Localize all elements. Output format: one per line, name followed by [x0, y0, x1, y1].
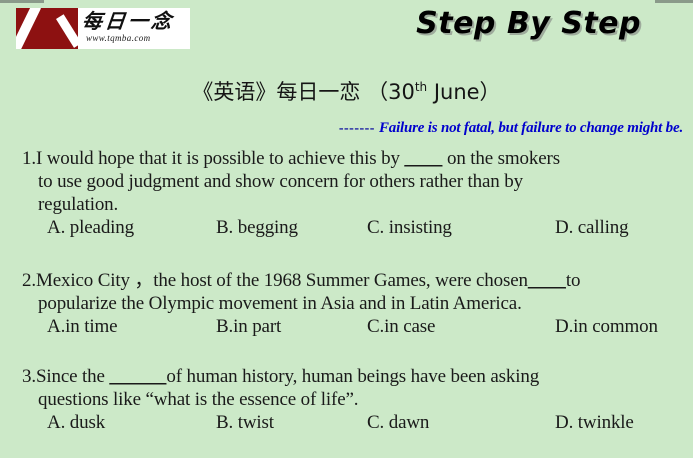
question-1-options: A. pleading B. begging C. insisting D. c… [22, 216, 685, 240]
question-3-text-before: Since the [36, 366, 109, 387]
logo-wordmark: 每日一念 www.tqmba.com [78, 8, 190, 49]
spacer-1 [22, 244, 685, 269]
question-3-option-b[interactable]: B. twist [216, 411, 367, 435]
page-title-prefix: 《英语》每日一恋 （30 [192, 80, 414, 104]
question-3-line-2: questions like “what is the essence of l… [22, 388, 685, 411]
question-2-number: 2. [22, 270, 36, 291]
question-2-line-2: popularize the Olympic movement in Asia … [22, 292, 685, 315]
question-2-option-c[interactable]: C.in case [367, 315, 555, 339]
question-1-line-1: 1.I would hope that it is possible to ac… [22, 147, 685, 170]
quote-text: Failure is not fatal, but failure to cha… [379, 120, 683, 136]
brand-logo: 每日一念 www.tqmba.com [16, 8, 190, 49]
question-2-text-before: Mexico City ，the host of the 1968 Summer… [36, 270, 528, 291]
spacer-2 [22, 343, 685, 365]
question-3: 3.Since the ______of human history, huma… [22, 365, 685, 435]
logo-stroke-right [56, 14, 78, 48]
quote-line: ------- Failure is not fatal, but failur… [0, 119, 683, 137]
quote-dashes: ------- [339, 121, 375, 136]
question-2-option-b[interactable]: B.in part [216, 315, 367, 339]
question-3-options: A. dusk B. twist C. dawn D. twinkle [22, 411, 685, 435]
slide-canvas: 每日一念 www.tqmba.com Step By Step 《英语》每日一恋… [0, 0, 693, 458]
question-1-option-d[interactable]: D. calling [555, 216, 628, 240]
question-2: 2.Mexico City ，the host of the 1968 Summ… [22, 269, 685, 339]
page-title-superscript: th [415, 80, 427, 94]
logo-stroke-left [16, 8, 41, 49]
question-1-text-before: I would hope that it is possible to achi… [36, 148, 404, 169]
question-1: 1.I would hope that it is possible to ac… [22, 147, 685, 240]
corner-mark-left [0, 0, 44, 3]
logo-calligraphy: 每日一念 [81, 8, 192, 35]
question-3-line-1: 3.Since the ______of human history, huma… [22, 365, 685, 388]
question-2-blank[interactable]: ____ [528, 270, 566, 291]
question-1-option-a[interactable]: A. pleading [47, 216, 216, 240]
question-3-option-c[interactable]: C. dawn [367, 411, 555, 435]
page-title: 《英语》每日一恋 （30th June） [0, 76, 693, 106]
question-1-line-3: regulation. [22, 193, 685, 216]
question-list: 1.I would hope that it is possible to ac… [22, 147, 685, 439]
question-2-options: A.in time B.in part C.in case D.in commo… [22, 315, 685, 339]
question-1-option-c[interactable]: C. insisting [367, 216, 555, 240]
corner-mark-right [655, 0, 693, 3]
question-3-option-d[interactable]: D. twinkle [555, 411, 634, 435]
question-1-option-b[interactable]: B. begging [216, 216, 367, 240]
question-1-text-after: on the smokers [442, 148, 560, 169]
question-1-number: 1. [22, 148, 36, 169]
brand-title: Step By Step [416, 6, 641, 41]
question-1-blank[interactable]: ____ [404, 148, 442, 169]
question-3-text-after: of human history, human beings have been… [166, 366, 539, 387]
question-2-text-after: to [566, 270, 580, 291]
logo-person-icon [16, 8, 78, 49]
question-2-line-1: 2.Mexico City ，the host of the 1968 Summ… [22, 269, 685, 292]
question-1-line-2: to use good judgment and show concern fo… [22, 170, 685, 193]
question-3-number: 3. [22, 366, 36, 387]
page-title-suffix: June） [427, 80, 500, 104]
question-3-option-a[interactable]: A. dusk [47, 411, 216, 435]
question-2-option-a[interactable]: A.in time [47, 315, 216, 339]
question-3-blank[interactable]: ______ [109, 366, 166, 387]
question-2-option-d[interactable]: D.in common [555, 315, 658, 339]
